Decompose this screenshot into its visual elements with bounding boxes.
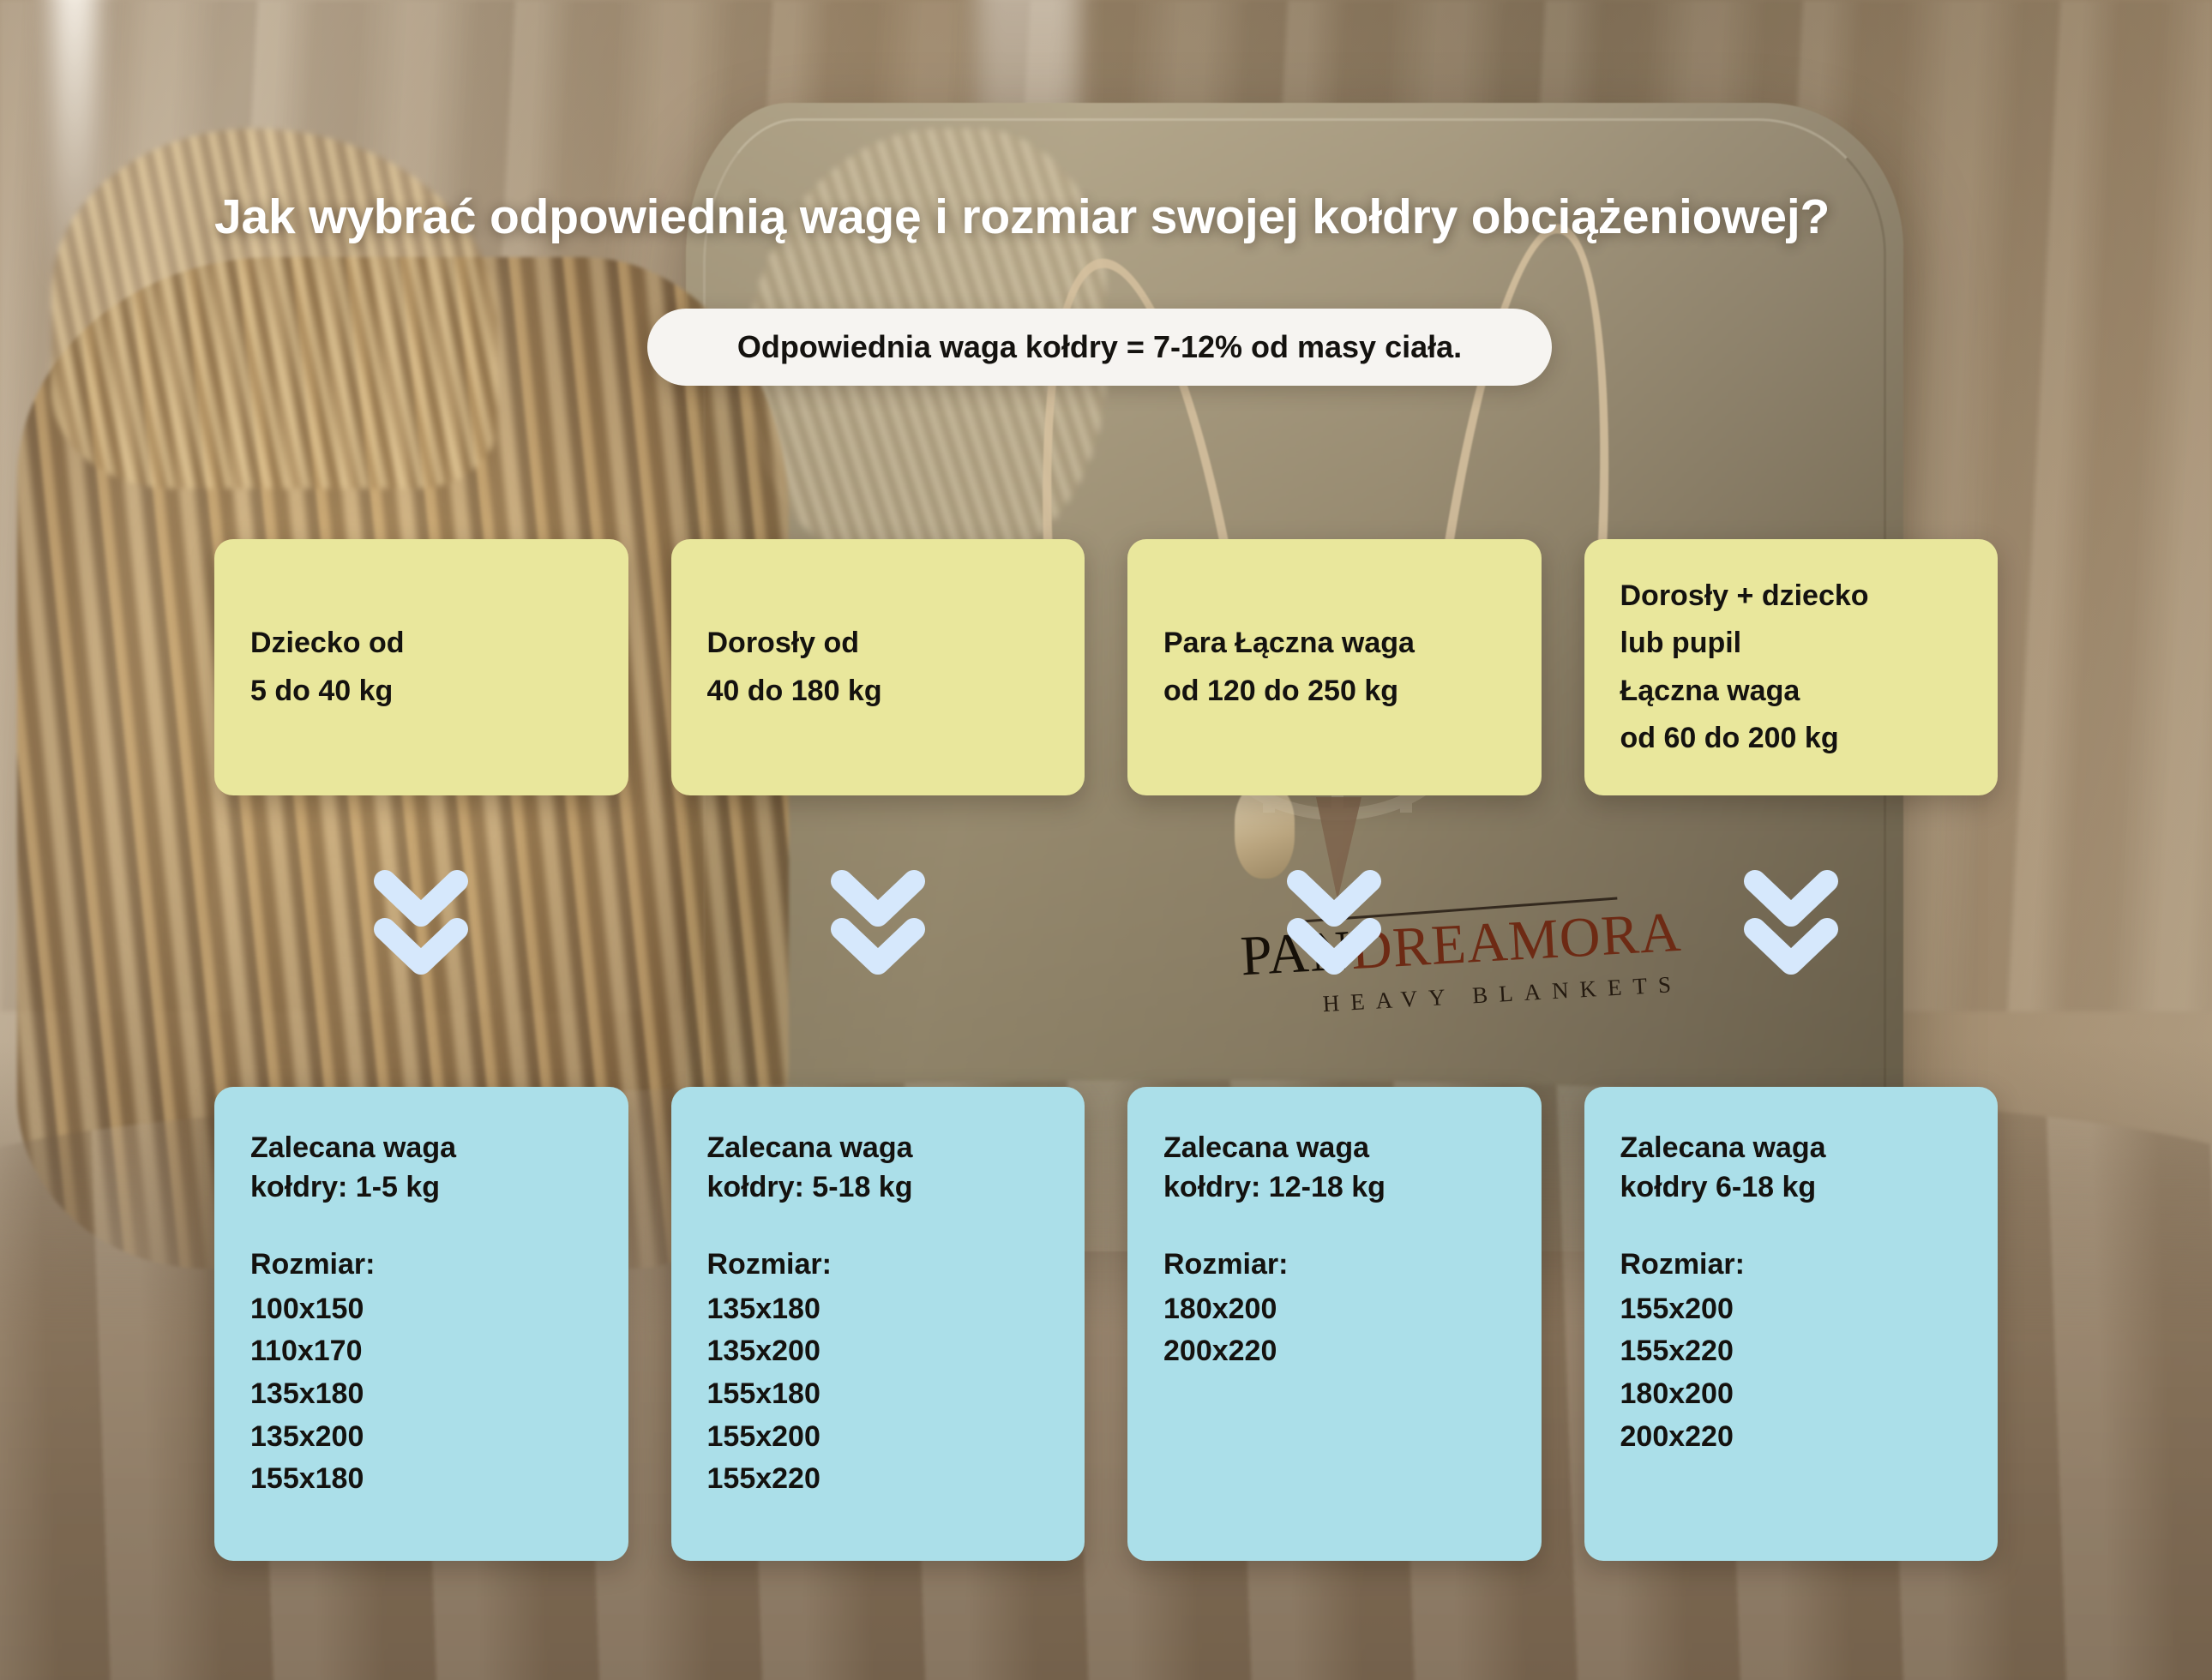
person-card-3-text: Para Łączna waga od 120 do 250 kg xyxy=(1163,620,1415,714)
recommendation-card-1-weight: Zalecana waga kołdry: 1-5 kg xyxy=(250,1128,592,1207)
arrow-cell-4 xyxy=(1584,864,1999,984)
recommendation-card-4[interactable]: Zalecana waga kołdry 6-18 kg Rozmiar: 15… xyxy=(1584,1087,1999,1561)
arrow-cell-3 xyxy=(1127,864,1542,984)
page-title: Jak wybrać odpowiednią wagę i rozmiar sw… xyxy=(214,190,2015,244)
formula-badge-text: Odpowiednia waga kołdry = 7-12% od masy … xyxy=(737,329,1462,365)
size-item: 180x200 xyxy=(1163,1288,1506,1331)
recommendation-card-2[interactable]: Zalecana waga kołdry: 5-18 kg Rozmiar: 1… xyxy=(671,1087,1085,1561)
size-item: 155x200 xyxy=(1620,1288,1963,1331)
recommendation-card-4-sizes: 155x200155x220180x200200x220 xyxy=(1620,1288,1963,1459)
recommendation-card-row: Zalecana waga kołdry: 1-5 kg Rozmiar: 10… xyxy=(214,1087,1998,1561)
person-card-2[interactable]: Dorosły od 40 do 180 kg xyxy=(671,539,1085,795)
arrow-row xyxy=(214,864,1998,984)
recommendation-card-2-sizes-label: Rozmiar: xyxy=(707,1245,1049,1284)
size-item: 135x180 xyxy=(707,1288,1049,1331)
size-item: 155x220 xyxy=(1620,1330,1963,1373)
size-item: 135x200 xyxy=(707,1330,1049,1373)
recommendation-card-2-sizes: 135x180135x200155x180155x200155x220 xyxy=(707,1288,1049,1501)
recommendation-card-2-weight: Zalecana waga kołdry: 5-18 kg xyxy=(707,1128,1049,1207)
size-item: 155x180 xyxy=(707,1373,1049,1416)
double-chevron-down-icon xyxy=(370,864,472,979)
size-item: 110x170 xyxy=(250,1330,592,1373)
recommendation-card-3-sizes-label: Rozmiar: xyxy=(1163,1245,1506,1284)
size-item: 155x180 xyxy=(250,1458,592,1501)
person-card-row: Dziecko od 5 do 40 kg Dorosły od 40 do 1… xyxy=(214,539,1998,795)
recommendation-card-1[interactable]: Zalecana waga kołdry: 1-5 kg Rozmiar: 10… xyxy=(214,1087,628,1561)
person-card-2-text: Dorosły od 40 do 180 kg xyxy=(707,620,882,714)
person-card-1-text: Dziecko od 5 do 40 kg xyxy=(250,620,404,714)
recommendation-card-3-weight: Zalecana waga kołdry: 12-18 kg xyxy=(1163,1128,1506,1207)
size-item: 180x200 xyxy=(1620,1373,1963,1416)
person-card-4[interactable]: Dorosły + dziecko lub pupil Łączna waga … xyxy=(1584,539,1999,795)
recommendation-card-3[interactable]: Zalecana waga kołdry: 12-18 kg Rozmiar: … xyxy=(1127,1087,1542,1561)
size-item: 135x200 xyxy=(250,1416,592,1459)
recommendation-card-1-sizes-label: Rozmiar: xyxy=(250,1245,592,1284)
arrow-cell-2 xyxy=(671,864,1085,984)
double-chevron-down-icon xyxy=(826,864,929,979)
person-card-3[interactable]: Para Łączna waga od 120 do 250 kg xyxy=(1127,539,1542,795)
recommendation-card-1-sizes: 100x150110x170135x180135x200155x180 xyxy=(250,1288,592,1501)
size-item: 135x180 xyxy=(250,1373,592,1416)
person-card-1[interactable]: Dziecko od 5 do 40 kg xyxy=(214,539,628,795)
size-item: 200x220 xyxy=(1163,1330,1506,1373)
size-item: 100x150 xyxy=(250,1288,592,1331)
arrow-cell-1 xyxy=(214,864,628,984)
recommendation-card-3-sizes: 180x200200x220 xyxy=(1163,1288,1506,1373)
person-card-4-text: Dorosły + dziecko lub pupil Łączna waga … xyxy=(1620,573,1869,761)
recommendation-card-4-weight: Zalecana waga kołdry 6-18 kg xyxy=(1620,1128,1963,1207)
formula-badge: Odpowiednia waga kołdry = 7-12% od masy … xyxy=(647,309,1552,386)
double-chevron-down-icon xyxy=(1740,864,1842,979)
size-item: 200x220 xyxy=(1620,1416,1963,1459)
infographic-stage: PANDREAMORA HEAVY BLANKETS Jak wybrać od… xyxy=(0,0,2212,1680)
size-item: 155x200 xyxy=(707,1416,1049,1459)
infographic-content: Jak wybrać odpowiednią wagę i rozmiar sw… xyxy=(0,0,2212,1680)
double-chevron-down-icon xyxy=(1283,864,1386,979)
recommendation-card-4-sizes-label: Rozmiar: xyxy=(1620,1245,1963,1284)
size-item: 155x220 xyxy=(707,1458,1049,1501)
